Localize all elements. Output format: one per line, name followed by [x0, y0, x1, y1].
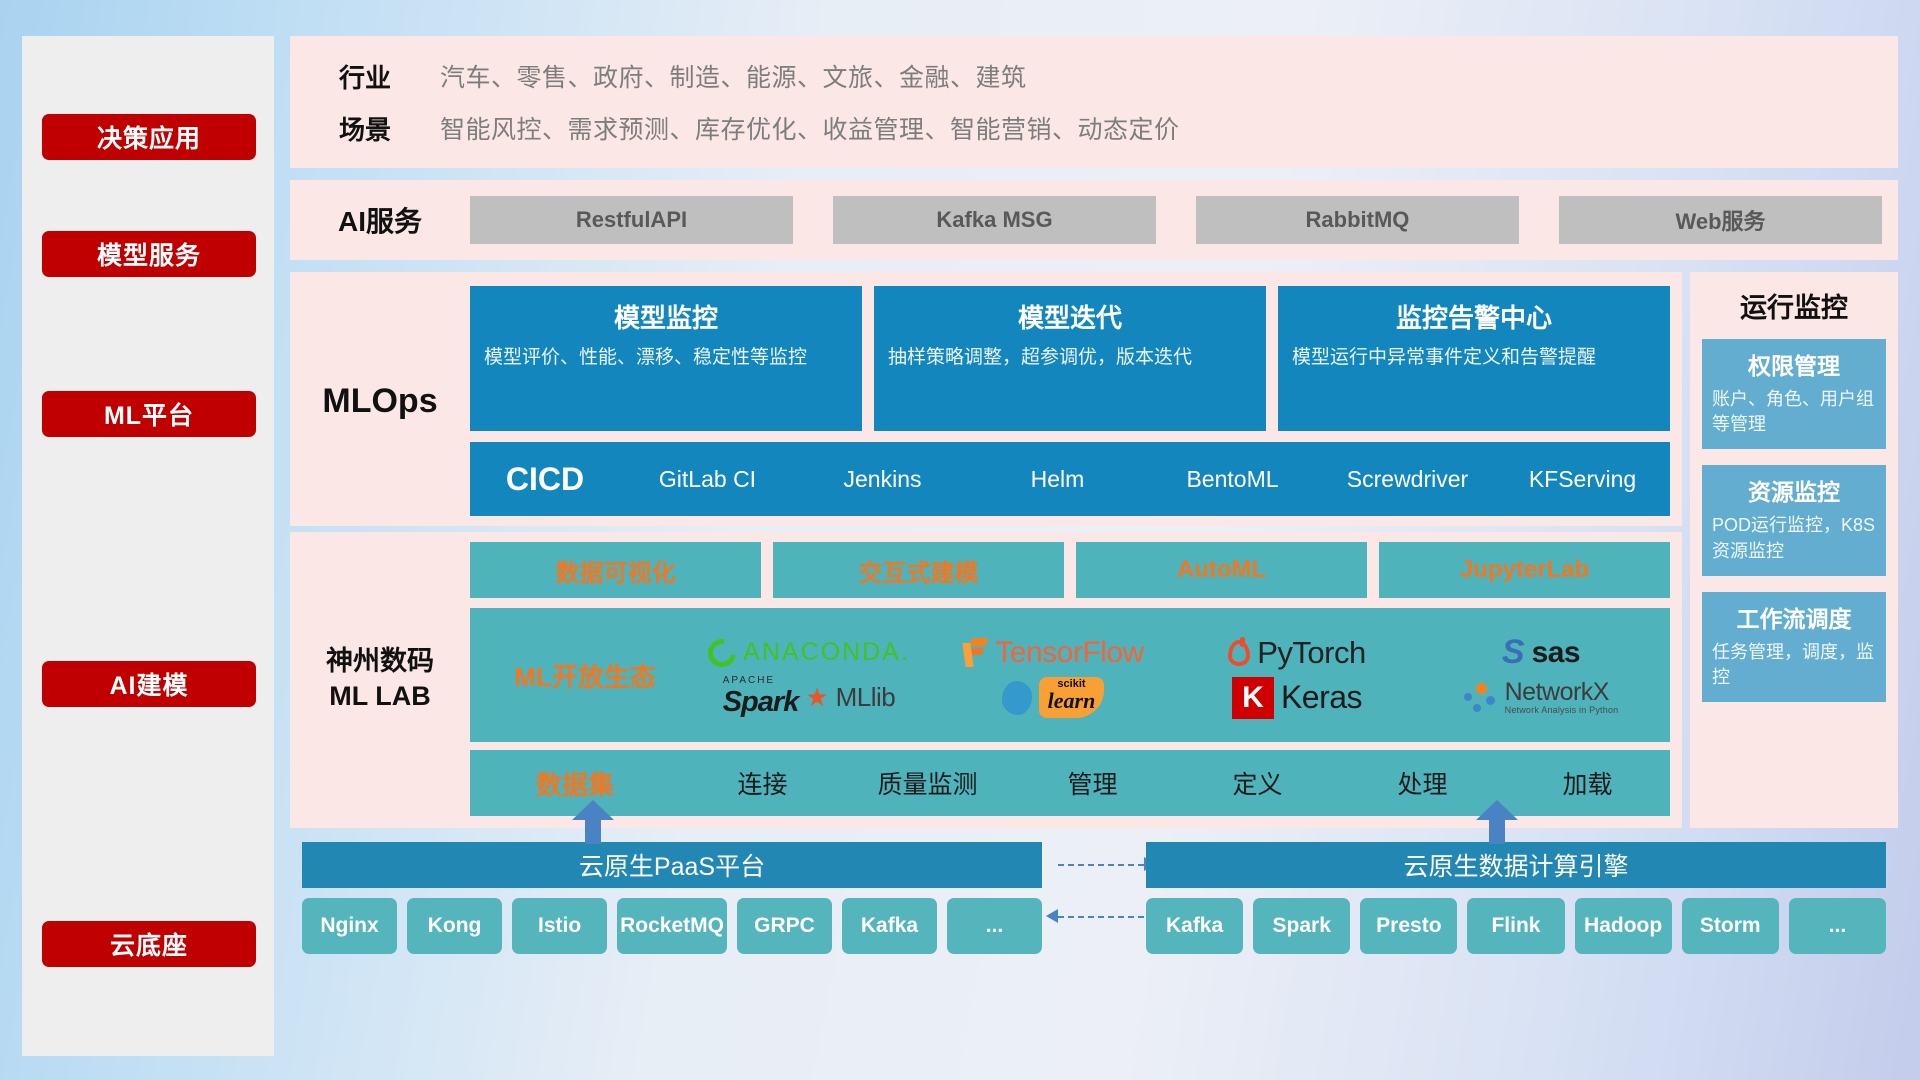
logo-label: PyTorch: [1257, 635, 1365, 671]
chip-hadoop[interactable]: Hadoop: [1575, 898, 1672, 954]
dataset-item-list: 连接 质量监测 管理 定义 处理 加载: [680, 765, 1670, 801]
ai-service-rabbitmq[interactable]: RabbitMQ: [1196, 196, 1519, 244]
runtime-monitor-title: 运行监控: [1702, 286, 1886, 325]
rail-label: AI建模: [109, 666, 188, 702]
industry-value: 汽车、零售、政府、制造、能源、文旅、金融、建筑: [440, 58, 1027, 94]
runtime-card-permission[interactable]: 权限管理 账户、角色、用户组等管理: [1702, 339, 1886, 449]
chip-rocketmq[interactable]: RocketMQ: [617, 898, 727, 954]
sas-logo: S sas: [1502, 633, 1580, 672]
cloud-paas-title: 云原生PaaS平台: [302, 842, 1042, 888]
cicd-item-bentoml[interactable]: BentoML: [1145, 466, 1320, 492]
ml-lab-line1: 神州数码: [326, 644, 434, 679]
ml-ecosystem-logos: ANACONDA. TensorFlow PyTorch: [690, 631, 1660, 719]
platform-main: MLOps 模型监控 模型评价、性能、漂移、稳定性等监控 模型迭代 抽样策略调整…: [290, 272, 1682, 828]
anaconda-logo: ANACONDA.: [708, 638, 910, 667]
mlops-card-model-iteration[interactable]: 模型迭代 抽样策略调整，超参调优，版本迭代: [874, 286, 1266, 431]
ml-ecosystem-label: ML开放生态: [480, 657, 690, 694]
scikit-learn-logo: scikit learn: [1002, 677, 1105, 718]
networkx-wordmark: NetworkX Network Analysis in Python: [1505, 680, 1619, 715]
sas-s-icon: S: [1502, 633, 1525, 672]
platform-section: MLOps 模型监控 模型评价、性能、漂移、稳定性等监控 模型迭代 抽样策略调整…: [290, 272, 1898, 828]
logo-label: ANACONDA.: [743, 638, 910, 667]
networkx-logo: NetworkX Network Analysis in Python: [1464, 680, 1619, 715]
chip-grpc[interactable]: GRPC: [737, 898, 832, 954]
arrow-left-icon: [1046, 909, 1058, 923]
industry-key: 行业: [290, 58, 440, 95]
tab-automl[interactable]: AutoML: [1076, 542, 1367, 598]
logo-label: Keras: [1281, 679, 1362, 716]
architecture-diagram: 决策应用 模型服务 ML平台 AI建模 云底座 行业 汽车、零售、政府、制造、能…: [0, 0, 1920, 1080]
card-title: 权限管理: [1712, 347, 1876, 381]
rail-item-decision-apps[interactable]: 决策应用: [42, 114, 256, 160]
mlops-key: MLOps: [290, 286, 470, 516]
mlops-card-model-monitor[interactable]: 模型监控 模型评价、性能、漂移、稳定性等监控: [470, 286, 862, 431]
rail-item-ai-modeling[interactable]: AI建模: [42, 661, 256, 707]
cicd-item-list: GitLab CI Jenkins Helm BentoML Screwdriv…: [620, 466, 1670, 492]
networkx-tagline: Network Analysis in Python: [1505, 705, 1619, 715]
spark-star-icon: ★: [805, 688, 828, 706]
rail-label: 决策应用: [97, 119, 201, 155]
card-title: 监控告警中心: [1292, 298, 1656, 335]
card-desc: POD运行监控，K8S资源监控: [1712, 513, 1876, 563]
decision-apps-band: 行业 汽车、零售、政府、制造、能源、文旅、金融、建筑 场景 智能风控、需求预测、…: [290, 36, 1898, 168]
anaconda-ring-icon: [703, 633, 742, 672]
tensorflow-logo: TensorFlow: [962, 636, 1143, 670]
chip-kafka[interactable]: Kafka: [1146, 898, 1243, 954]
dataset-item-manage[interactable]: 管理: [1010, 765, 1175, 801]
tab-jupyterlab[interactable]: JupyterLab: [1379, 542, 1670, 598]
rail-label: 云底座: [110, 926, 188, 962]
pytorch-logo: PyTorch: [1228, 635, 1365, 671]
rail-item-cloud-base[interactable]: 云底座: [42, 921, 256, 967]
chip-flink[interactable]: Flink: [1467, 898, 1564, 954]
mlops-band: MLOps 模型监控 模型评价、性能、漂移、稳定性等监控 模型迭代 抽样策略调整…: [290, 272, 1682, 526]
dataset-item-define[interactable]: 定义: [1175, 765, 1340, 801]
dashed-line-bottom: [1058, 916, 1144, 918]
industry-row: 行业 汽车、零售、政府、制造、能源、文旅、金融、建筑: [290, 50, 1898, 102]
rail-item-model-service[interactable]: 模型服务: [42, 231, 256, 277]
card-desc: 抽样策略调整，超参调优，版本迭代: [888, 345, 1252, 372]
spark-label: Spark: [723, 686, 799, 718]
ml-lab-key: 神州数码 ML LAB: [290, 542, 470, 816]
card-desc: 任务管理，调度，监控: [1712, 640, 1876, 690]
tab-interactive-modeling[interactable]: 交互式建模: [773, 542, 1064, 598]
card-desc: 模型评价、性能、漂移、稳定性等监控: [484, 345, 848, 372]
tensorflow-mark-icon: [962, 638, 988, 668]
chip-spark[interactable]: Spark: [1253, 898, 1350, 954]
chip-istio[interactable]: Istio: [512, 898, 607, 954]
chip-more[interactable]: ...: [947, 898, 1042, 954]
card-title: 模型监控: [484, 298, 848, 335]
cloud-paas-column: 云原生PaaS平台 Nginx Kong Istio RocketMQ GRPC…: [302, 842, 1042, 954]
chip-kafka[interactable]: Kafka: [842, 898, 937, 954]
logo-label: TensorFlow: [995, 636, 1143, 670]
ai-service-web[interactable]: Web服务: [1559, 196, 1882, 244]
up-arrow-icon: [572, 800, 614, 842]
dataset-label: 数据集: [470, 765, 680, 802]
card-title: 工作流调度: [1712, 600, 1876, 634]
pytorch-flame-icon: [1228, 640, 1250, 666]
card-desc: 模型运行中异常事件定义和告警提醒: [1292, 345, 1656, 372]
dataset-item-process[interactable]: 处理: [1340, 765, 1505, 801]
chip-presto[interactable]: Presto: [1360, 898, 1457, 954]
ai-services-key: AI服务: [290, 200, 470, 240]
cloud-compute-title: 云原生数据计算引擎: [1146, 842, 1886, 888]
ai-service-kafka-msg[interactable]: Kafka MSG: [833, 196, 1156, 244]
logo-label: NetworkX: [1505, 678, 1609, 706]
cicd-item-kfserving[interactable]: KFServing: [1495, 466, 1670, 492]
spark-wordmark: APACHE Spark: [723, 676, 799, 719]
band-divider: [290, 168, 1898, 180]
scikit-wordmark: scikit learn: [1039, 677, 1105, 718]
modeling-tab-list: 数据可视化 交互式建模 AutoML JupyterLab: [470, 542, 1670, 598]
up-arrow-icon: [1476, 800, 1518, 842]
rail-label: 模型服务: [97, 236, 201, 272]
chip-kong[interactable]: Kong: [407, 898, 502, 954]
dataset-item-load[interactable]: 加载: [1505, 765, 1670, 801]
cicd-title: CICD: [470, 461, 620, 498]
mlops-card-alert-center[interactable]: 监控告警中心 模型运行中异常事件定义和告警提醒: [1278, 286, 1670, 431]
logo-label: MLlib: [836, 682, 896, 713]
arrow-shaft: [585, 814, 601, 844]
cicd-item-helm[interactable]: Helm: [970, 466, 1145, 492]
scenario-value: 智能风控、需求预测、库存优化、收益管理、智能营销、动态定价: [440, 110, 1180, 146]
ai-modeling-band: 神州数码 ML LAB 数据可视化 交互式建模 AutoML JupyterLa…: [290, 532, 1682, 828]
cloud-paas-chips: Nginx Kong Istio RocketMQ GRPC Kafka ...: [302, 898, 1042, 954]
spark-apache-label: APACHE: [723, 676, 799, 686]
ai-services-band: AI服务 RestfulAPI Kafka MSG RabbitMQ Web服务: [290, 180, 1898, 260]
bidirectional-link-arrows: [1058, 854, 1158, 938]
chip-nginx[interactable]: Nginx: [302, 898, 397, 954]
cloud-compute-chips: Kafka Spark Presto Flink Hadoop Storm ..…: [1146, 898, 1886, 954]
ml-ecosystem-row: ML开放生态 ANACONDA. TensorFlow: [470, 608, 1670, 742]
keras-k-icon: K: [1232, 677, 1274, 719]
dashed-line-top: [1058, 864, 1144, 866]
scikit-blob-icon: [1002, 681, 1032, 715]
networkx-graph-icon: [1464, 683, 1498, 713]
mlops-card-list: 模型监控 模型评价、性能、漂移、稳定性等监控 模型迭代 抽样策略调整，超参调优，…: [470, 286, 1670, 431]
logo-label: sas: [1532, 636, 1581, 670]
cloud-base-section: 云原生PaaS平台 Nginx Kong Istio RocketMQ GRPC…: [290, 842, 1898, 954]
chip-storm[interactable]: Storm: [1682, 898, 1779, 954]
ai-modeling-content: 数据可视化 交互式建模 AutoML JupyterLab ML开放生态 ANA…: [470, 542, 1670, 816]
cicd-bar: CICD GitLab CI Jenkins Helm BentoML Scre…: [470, 442, 1670, 516]
ai-service-restfulapi[interactable]: RestfulAPI: [470, 196, 793, 244]
rail-item-ml-platform[interactable]: ML平台: [42, 391, 256, 437]
dataset-item-connect[interactable]: 连接: [680, 765, 845, 801]
card-title: 资源监控: [1712, 473, 1876, 507]
scenario-key: 场景: [290, 110, 440, 147]
chip-more[interactable]: ...: [1789, 898, 1886, 954]
diagram-body: 行业 汽车、零售、政府、制造、能源、文旅、金融、建筑 场景 智能风控、需求预测、…: [290, 36, 1898, 1056]
keras-logo: K Keras: [1232, 677, 1362, 719]
rail-label: ML平台: [104, 396, 194, 432]
dataset-item-quality-monitor[interactable]: 质量监测: [845, 765, 1010, 801]
runtime-card-workflow[interactable]: 工作流调度 任务管理，调度，监控: [1702, 592, 1886, 702]
runtime-card-resource[interactable]: 资源监控 POD运行监控，K8S资源监控: [1702, 465, 1886, 575]
mlops-content: 模型监控 模型评价、性能、漂移、稳定性等监控 模型迭代 抽样策略调整，超参调优，…: [470, 286, 1670, 516]
logo-label: learn: [1048, 688, 1096, 713]
card-desc: 账户、角色、用户组等管理: [1712, 387, 1876, 437]
arrow-shaft: [1489, 814, 1505, 844]
spark-mllib-logo: APACHE Spark ★ MLlib: [723, 676, 896, 719]
ml-lab-line2: ML LAB: [329, 679, 431, 714]
ai-services-boxes: RestfulAPI Kafka MSG RabbitMQ Web服务: [470, 196, 1898, 244]
tab-data-visualization[interactable]: 数据可视化: [470, 542, 761, 598]
cicd-item-gitlab-ci[interactable]: GitLab CI: [620, 466, 795, 492]
cicd-item-jenkins[interactable]: Jenkins: [795, 466, 970, 492]
card-title: 模型迭代: [888, 298, 1252, 335]
cloud-compute-column: 云原生数据计算引擎 Kafka Spark Presto Flink Hadoo…: [1146, 842, 1886, 954]
scenario-row: 场景 智能风控、需求预测、库存优化、收益管理、智能营销、动态定价: [290, 102, 1898, 154]
cicd-item-screwdriver[interactable]: Screwdriver: [1320, 466, 1495, 492]
left-layer-rail: 决策应用 模型服务 ML平台 AI建模 云底座: [22, 36, 274, 1056]
runtime-monitor-rail: 运行监控 权限管理 账户、角色、用户组等管理 资源监控 POD运行监控，K8S资…: [1690, 272, 1898, 828]
